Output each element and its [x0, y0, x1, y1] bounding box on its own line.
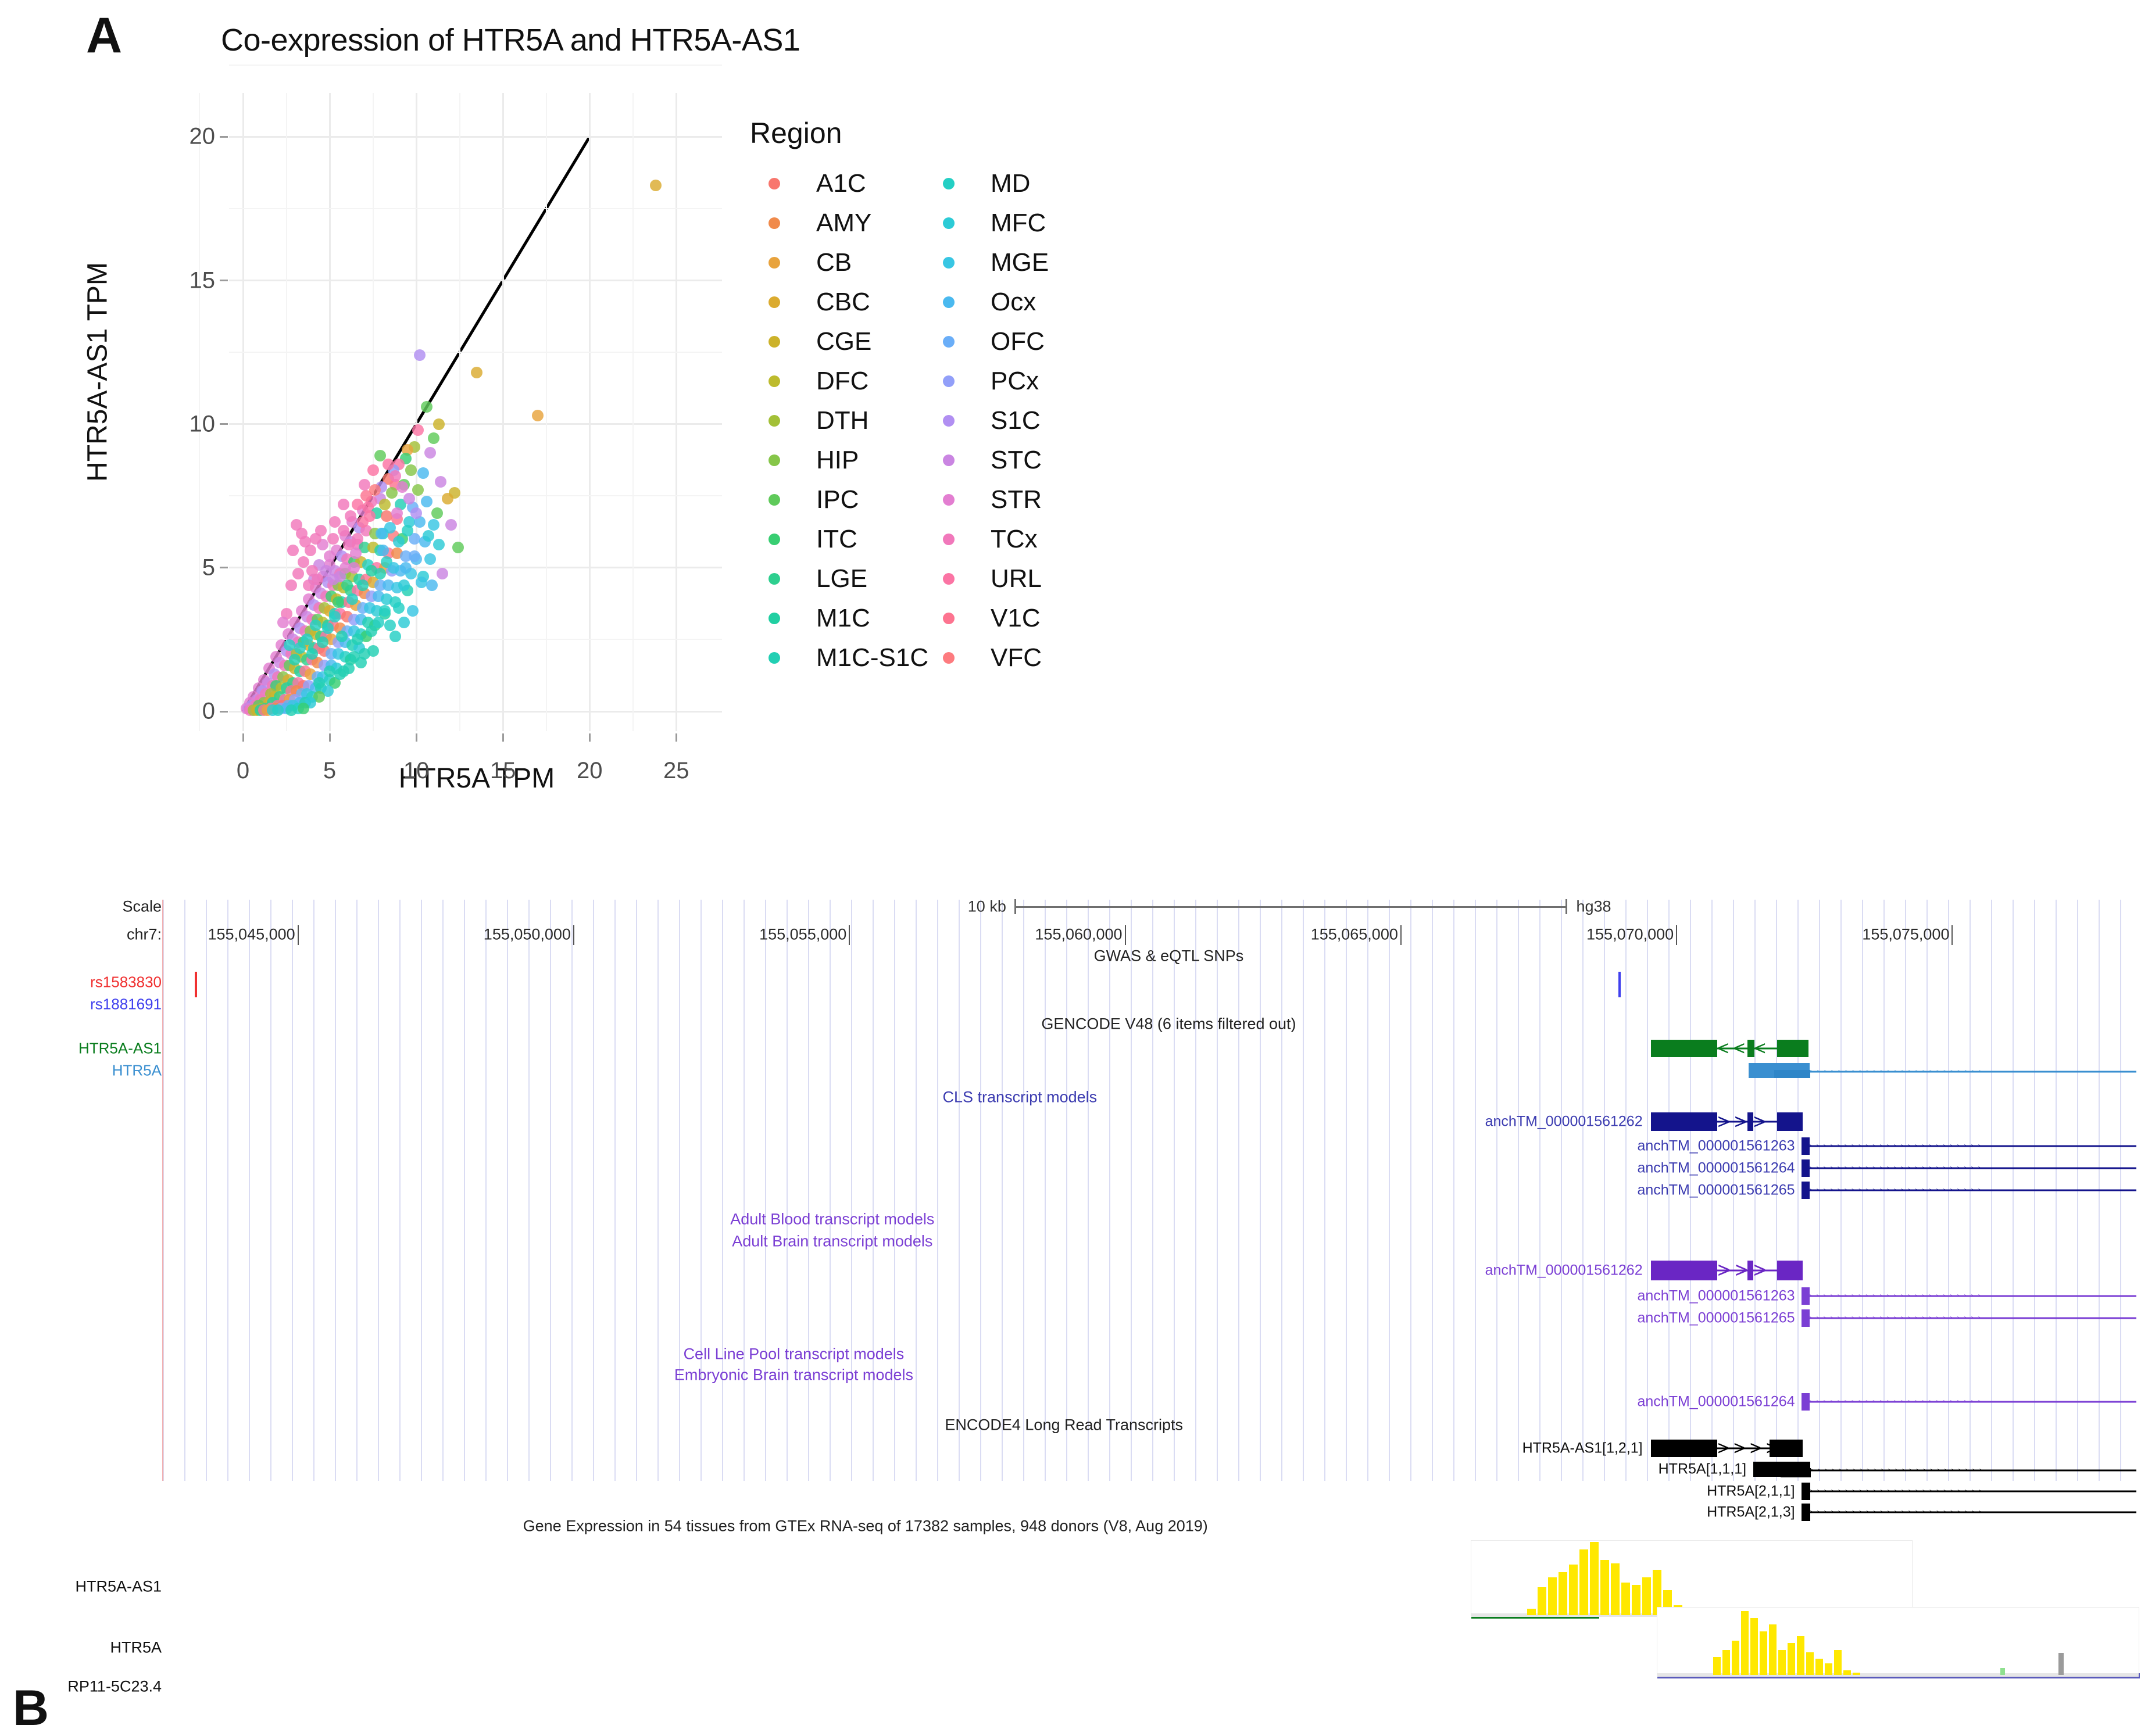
scale-bar-text: 10 kb [968, 898, 1006, 916]
browser-gridline [1797, 900, 1799, 1481]
gtex-bar [1548, 1577, 1557, 1615]
track-title-cls: CLS transcript models [943, 1089, 1098, 1107]
legend-swatch-icon [769, 652, 780, 664]
scatter-point [398, 579, 410, 591]
scatter-point [402, 525, 413, 536]
scatter-point [272, 704, 284, 716]
scatter-point [359, 479, 370, 491]
gtex-bar [1642, 1577, 1651, 1615]
legend-item-amy[interactable]: AMY [750, 203, 924, 243]
gtex-label-htr5a-as1: HTR5A-AS1 [75, 1578, 162, 1596]
gtex-bar [1621, 1583, 1630, 1615]
legend-item-url[interactable]: URL [924, 559, 1075, 599]
gtex-bar [1632, 1585, 1640, 1615]
snp-label-rs1881691: rs1881691 [90, 996, 162, 1014]
htr5a-gencode-tail-strand-arrows: >>>>>>>>>>>>>>>>>>>>>>>>> [1810, 1070, 2137, 1074]
y-tick-label: 20 [145, 124, 215, 150]
legend-swatch-icon [769, 336, 780, 348]
cls-transcript-label-0: anchTM_000001561262 [1485, 1114, 1643, 1130]
legend-item-label: A1C [816, 169, 866, 198]
scatter-point [435, 476, 446, 488]
adult-transcript-1-tail-strand-arrows: >>>>>>>>>>>>>>>>>>>>>>>>> [1810, 1294, 2137, 1298]
legend-item-vfc[interactable]: VFC [924, 638, 1075, 678]
legend-item-s1c[interactable]: S1C [924, 401, 1075, 441]
track-title-embryonic-brain: Embryonic Brain transcript models [674, 1366, 913, 1384]
scatter-point [433, 539, 445, 550]
cls-transcript-0-exon [1777, 1112, 1803, 1131]
scatter-point [298, 703, 309, 714]
scatter-point [428, 519, 439, 531]
scatter-point [346, 593, 358, 605]
browser-gridline [1410, 900, 1411, 1481]
legend-swatch-icon [943, 257, 955, 269]
y-tickmark [220, 711, 228, 713]
legend-item-mfc[interactable]: MFC [924, 203, 1075, 243]
browser-gridline [636, 900, 637, 1481]
legend-item-tcx[interactable]: TCx [924, 520, 1075, 559]
browser-gridline [292, 900, 293, 1481]
browser-gridline [873, 900, 874, 1481]
x-gridline-minor [459, 93, 460, 731]
track-title-encode4: ENCODE4 Long Read Transcripts [945, 1416, 1183, 1434]
browser-gridline [1367, 900, 1368, 1481]
browser-gridline [1453, 900, 1454, 1481]
gtex-label-htr5a: HTR5A [110, 1639, 162, 1657]
cls-transcript-0-exon [1651, 1112, 1717, 1131]
scatter-point [352, 533, 363, 545]
scatter-point [369, 484, 381, 496]
scatter-point [431, 507, 443, 519]
legend-item-label: TCx [991, 525, 1038, 554]
scatter-point [364, 510, 376, 522]
legend-item-cb[interactable]: CB [750, 243, 924, 282]
scatter-point [374, 450, 386, 461]
scatter-point [384, 620, 396, 631]
legend-item-label: OFC [991, 327, 1045, 356]
browser-gridline [1432, 900, 1433, 1481]
scatter-point [426, 579, 438, 591]
gtex-bar [1825, 1663, 1832, 1675]
scatter-point [287, 545, 299, 556]
adult-transcript-0-strand-arrows: >> [1717, 1259, 1747, 1282]
scatter-point [334, 668, 346, 680]
scatter-point [336, 631, 348, 642]
browser-gridline [1260, 900, 1261, 1481]
scatter-point [398, 617, 410, 628]
adult-transcript-0-exon [1777, 1261, 1803, 1280]
legend-swatch-icon [943, 573, 955, 585]
panel-b-genome-browser: B Scalechr7:10 kbhg38155,045,000155,050,… [0, 849, 2141, 1530]
gtex-bar [1590, 1542, 1599, 1615]
scatter-point [389, 631, 401, 642]
gtex-bar [1853, 1673, 1860, 1675]
legend-swatch-icon [769, 613, 780, 624]
scatter-point [338, 499, 349, 510]
legend-swatch-icon [769, 257, 780, 269]
legend-swatch-icon [943, 296, 955, 308]
legend-item-label: CBC [816, 288, 870, 317]
browser-gridline [894, 900, 895, 1481]
scatter-point [650, 180, 662, 191]
track-title-gwas: GWAS & eQTL SNPs [1094, 947, 1244, 965]
scatter-point [532, 410, 544, 421]
scatter-point [433, 418, 445, 430]
y-gridline [229, 280, 722, 281]
x-gridline-minor [632, 93, 634, 731]
scatter-point [386, 487, 398, 499]
browser-gridline [1109, 900, 1110, 1481]
scatter-point [345, 510, 356, 522]
x-tickmark [416, 733, 417, 742]
legend-swatch-icon [769, 217, 780, 229]
adult-transcript-label-2: anchTM_000001561265 [1637, 1310, 1795, 1327]
browser-gridline [335, 900, 336, 1481]
browser-gridline [808, 900, 809, 1481]
browser-gridline [1625, 900, 1627, 1481]
track-title-adult-blood: Adult Blood transcript models [730, 1211, 934, 1229]
legend-item-label: ITC [816, 525, 857, 554]
browser-gridline [1088, 900, 1089, 1481]
browser-gridline [1152, 900, 1153, 1481]
scatter-point [289, 654, 301, 665]
y-tickmark [220, 567, 228, 568]
legend-swatch-icon [769, 494, 780, 506]
gtex-bar [1611, 1563, 1620, 1615]
x-tickmark [675, 733, 677, 742]
legend-item-pcx[interactable]: PCx [924, 361, 1075, 401]
scatter-point [407, 605, 419, 617]
htr5a-as1-gencode-strand-arrows: << [1717, 1039, 1747, 1058]
adult-transcript-2-tail-strand-arrows: >>>>>>>>>>>>>>>>>>>>>>>>> [1810, 1316, 2137, 1320]
x-tickmark [242, 733, 244, 742]
legend-item-label: HIP [816, 446, 859, 475]
legend-item-label: CGE [816, 327, 871, 356]
encode-transcript-label-3: HTR5A[2,1,3] [1707, 1504, 1795, 1521]
y-tickmark [220, 280, 228, 281]
legend-item-label: DTH [816, 406, 868, 435]
legend-item-str[interactable]: STR [924, 480, 1075, 520]
gtex-bar [1788, 1643, 1795, 1675]
gtex-bar [1750, 1618, 1758, 1675]
coordinate-tick [1400, 925, 1402, 945]
scatter-point [452, 542, 464, 553]
scatter-point [388, 562, 399, 574]
encode-transcript-label-0: HTR5A-AS1[1,2,1] [1522, 1440, 1643, 1457]
browser-gridline [1475, 900, 1476, 1481]
scatter-point [423, 530, 434, 542]
region-legend: Region A1CAMYCBCBCCGEDFCDTHHIPIPCITCLGEM… [750, 116, 1075, 678]
adult-transcript-2-exon [1802, 1309, 1810, 1327]
legend-item-m1c[interactable]: M1C [750, 599, 924, 638]
legend-item-itc[interactable]: ITC [750, 520, 924, 559]
browser-gridline [937, 900, 938, 1481]
legend-swatch-icon [943, 375, 955, 387]
gtex-bar [1600, 1560, 1609, 1615]
scatter-point [396, 481, 408, 493]
browser-gridline [1023, 900, 1024, 1481]
legend-columns: A1CAMYCBCBCCGEDFCDTHHIPIPCITCLGEM1CM1C-S… [750, 164, 1075, 678]
browser-gridline [270, 900, 271, 1481]
browser-gridline [1561, 900, 1562, 1481]
assembly-label: hg38 [1576, 898, 1611, 916]
coordinate-tick [298, 925, 299, 945]
browser-gridline [1195, 900, 1196, 1481]
browser-gridline [1582, 900, 1584, 1481]
browser-gridline [657, 900, 659, 1481]
scatter-point [403, 493, 415, 504]
legend-item-a1c[interactable]: A1C [750, 164, 924, 203]
legend-item-dth[interactable]: DTH [750, 401, 924, 441]
scatter-point [417, 467, 429, 479]
scatter-point [348, 651, 360, 663]
encode-transcript-0-exon [1651, 1440, 1717, 1457]
embryonic-transcript-0-tail-strand-arrows: >>>>>>>>>>>>>>>>>>>>>>>>> [1810, 1400, 2137, 1404]
scatter-point [352, 633, 363, 645]
legend-item-label: M1C-S1C [816, 643, 928, 672]
scatter-point [357, 579, 369, 591]
browser-gridline [1217, 900, 1218, 1481]
browser-gridline [507, 900, 508, 1481]
htr5a-gencode-thick-exon [1774, 1070, 1810, 1078]
embryonic-transcript-label-0: anchTM_000001561264 [1637, 1394, 1795, 1411]
browser-gridline [1303, 900, 1304, 1481]
scatter-point [391, 507, 403, 519]
htr5a-as1-gencode-strand-arrows: < [1754, 1039, 1777, 1058]
x-gridline [589, 93, 591, 731]
legend-item-cbc[interactable]: CBC [750, 282, 924, 322]
browser-gridline [528, 900, 530, 1481]
legend-item-label: PCx [991, 367, 1039, 396]
browser-gridline [442, 900, 444, 1481]
htr5a-as1-gencode-exon [1747, 1040, 1754, 1057]
browser-gridline [1496, 900, 1497, 1481]
scatter-point [410, 507, 422, 519]
browser-gridline [916, 900, 917, 1481]
browser-gridline [378, 900, 379, 1481]
browser-gridline [1346, 900, 1347, 1481]
snp-tick-rs1583830[interactable] [195, 972, 197, 997]
scatter-point [442, 493, 453, 504]
browser-gridline [851, 900, 852, 1481]
track-title-gtex: Gene Expression in 54 tissues from GTEx … [523, 1517, 1208, 1535]
x-gridline-minor [546, 93, 547, 731]
cls-transcript-label-2: anchTM_000001561264 [1637, 1160, 1795, 1177]
scatter-point [367, 464, 379, 476]
legend-item-label: S1C [991, 406, 1041, 435]
legend-swatch-icon [943, 336, 955, 348]
cls-transcript-3-tail-strand-arrows: >>>>>>>>>>>>>>>>>>>>>>>>> [1810, 1189, 2137, 1193]
scatter-point [322, 622, 334, 634]
encode-transcript-0-exon [1770, 1440, 1803, 1457]
scatter-point [389, 470, 401, 482]
browser-left-rule [162, 900, 163, 1481]
gtex-bar [1843, 1670, 1851, 1675]
scatter-point [277, 617, 289, 628]
browser-gridline [1045, 900, 1046, 1481]
scatter-point [414, 349, 426, 361]
legend-swatch-icon [943, 534, 955, 545]
gtex-bar [1769, 1624, 1777, 1675]
scatter-point [367, 645, 379, 657]
scale-bar-cap-left [1014, 899, 1016, 914]
scatter-point [310, 620, 321, 631]
scatter-point [366, 625, 377, 637]
x-gridline [675, 93, 677, 731]
gtex-bar [1778, 1650, 1786, 1675]
y-tick-label: 15 [145, 267, 215, 293]
gtex-bar [1538, 1587, 1546, 1615]
scatter-point [306, 648, 318, 660]
browser-gridline [980, 900, 981, 1481]
legend-item-dfc[interactable]: DFC [750, 361, 924, 401]
coordinate-label: 155,065,000 [1311, 926, 1398, 944]
y-gridline [229, 136, 722, 138]
legend-item-label: M1C [816, 604, 870, 633]
encode-transcript-2-tail-strand-arrows: >>>>>>>>>>>>>>>>>>>>>>>>> [1810, 1490, 2137, 1494]
coordinate-label: 155,070,000 [1586, 926, 1674, 944]
browser-gridline [1389, 900, 1390, 1481]
legend-swatch-icon [943, 613, 955, 624]
gene-label-htr5a: HTR5A [112, 1062, 162, 1080]
htr5a-as1-gencode-exon [1777, 1040, 1808, 1057]
browser-gridline [550, 900, 551, 1481]
scatter-point [437, 568, 448, 579]
scatter-point [338, 525, 349, 536]
scatter-point [421, 496, 433, 507]
scatter-point [377, 545, 389, 556]
scatter-point [400, 562, 412, 574]
x-tickmark [502, 733, 504, 742]
ucsc-browser-view[interactable]: Scalechr7:10 kbhg38155,045,000155,050,00… [0, 872, 2141, 1523]
legend-item-label: MFC [991, 209, 1046, 238]
legend-item-stc[interactable]: STC [924, 441, 1075, 480]
snp-tick-rs1881691[interactable] [1618, 972, 1621, 997]
gtex-bar [1760, 1631, 1767, 1675]
legend-item-ofc[interactable]: OFC [924, 322, 1075, 361]
scale-row-label: Scale [122, 898, 162, 916]
scatter-point [424, 553, 436, 565]
legend-swatch-icon [769, 534, 780, 545]
gtex-bar [1527, 1609, 1536, 1615]
y-tickmark [220, 423, 228, 425]
y-gridline-minor [229, 208, 722, 209]
scatter-point [393, 536, 405, 547]
encode-transcript-3-tail-strand-arrows: >>>>>>>>>>>>>>>>>>>>>>>>> [1810, 1511, 2137, 1515]
legend-item-label: MGE [991, 248, 1049, 277]
legend-item-label: VFC [991, 643, 1042, 672]
gtex-bar [1797, 1636, 1804, 1675]
scatter-point [292, 568, 304, 579]
scatter-point [329, 611, 341, 622]
browser-gridline [249, 900, 250, 1481]
legend-item-m1c-s1c[interactable]: M1C-S1C [750, 638, 924, 678]
legend-item-ipc[interactable]: IPC [750, 480, 924, 520]
gtex-bar [1569, 1565, 1578, 1615]
scatter-point [379, 605, 391, 617]
legend-swatch-icon [943, 494, 955, 506]
coordinate-label: 155,050,000 [484, 926, 571, 944]
cls-transcript-label-1: anchTM_000001561263 [1637, 1138, 1795, 1155]
browser-gridline [959, 900, 960, 1481]
adult-transcript-0-strand-arrows: > [1753, 1259, 1777, 1282]
gtex-track-htr5a [1657, 1607, 2139, 1676]
legend-item-label: URL [991, 564, 1042, 593]
legend-item-lge[interactable]: LGE [750, 559, 924, 599]
scatter-point [327, 533, 339, 545]
browser-gridline [206, 900, 207, 1481]
y-gridline [229, 423, 722, 425]
scatter-point [366, 565, 377, 577]
browser-gridline [1281, 900, 1282, 1481]
y-tick-label: 0 [145, 699, 215, 725]
browser-gridline [227, 900, 228, 1481]
scatter-point [384, 522, 396, 534]
legend-item-v1c[interactable]: V1C [924, 599, 1075, 638]
legend-title: Region [750, 116, 1075, 150]
browser-gridline [571, 900, 573, 1481]
chrom-label: chr7: [127, 926, 162, 944]
encode-transcript-1-tail-strand-arrows: >>>>>>>>>>>>>>>>>>>>>>>>> [1811, 1469, 2137, 1473]
gtex-bar [1579, 1549, 1588, 1615]
browser-gridline [1238, 900, 1239, 1481]
coordinate-tick [849, 925, 850, 945]
x-tickmark [329, 733, 331, 742]
y-gridline-minor [229, 352, 722, 353]
scatter-point [352, 499, 363, 510]
encode-transcript-3-exon [1802, 1504, 1810, 1521]
browser-gridline [765, 900, 766, 1481]
legend-item-ocx[interactable]: Ocx [924, 282, 1075, 322]
browser-gridline [1131, 900, 1132, 1481]
legend-swatch-icon [769, 375, 780, 387]
scatter-point [416, 577, 427, 588]
track-title-gencode: GENCODE V48 (6 items filtered out) [1041, 1015, 1296, 1033]
track-title-adult-brain: Adult Brain transcript models [732, 1233, 932, 1251]
legend-swatch-icon [769, 454, 780, 466]
legend-item-hip[interactable]: HIP [750, 441, 924, 480]
gtex-bar [1713, 1657, 1721, 1675]
coordinate-label: 155,045,000 [208, 926, 295, 944]
browser-gridline [1002, 900, 1003, 1481]
gtex-bar-minor [2058, 1653, 2064, 1675]
x-tick-label: 0 [237, 758, 249, 784]
coordinate-label: 155,075,000 [1862, 926, 1949, 944]
browser-gridline [614, 900, 616, 1481]
scatter-point [299, 536, 311, 547]
legend-column-right: MDMFCMGEOcxOFCPCxS1CSTCSTRTCxURLV1CVFC [924, 164, 1075, 678]
scatter-point [348, 562, 360, 574]
legend-swatch-icon [943, 217, 955, 229]
adult-transcript-0-exon [1747, 1261, 1753, 1280]
scatter-point [315, 525, 327, 536]
scatter-point [333, 596, 344, 608]
cls-transcript-0-strand-arrows: > [1753, 1111, 1777, 1132]
scatter-point [421, 401, 433, 413]
gtex-bar [1722, 1650, 1730, 1675]
legend-item-mge[interactable]: MGE [924, 243, 1075, 282]
coordinate-tick [1951, 925, 1953, 945]
legend-item-cge[interactable]: CGE [750, 322, 924, 361]
browser-gridline [356, 900, 358, 1481]
legend-item-md[interactable]: MD [924, 164, 1075, 203]
track-title-cell-line-pool: Cell Line Pool transcript models [684, 1345, 905, 1363]
adult-transcript-label-0: anchTM_000001561262 [1485, 1262, 1643, 1279]
browser-gridline [1539, 900, 1540, 1481]
x-tick-label: 5 [323, 758, 336, 784]
gtex-track-htr5a-as1 [1471, 1540, 1913, 1616]
browser-gridline [421, 900, 422, 1481]
legend-item-label: LGE [816, 564, 867, 593]
